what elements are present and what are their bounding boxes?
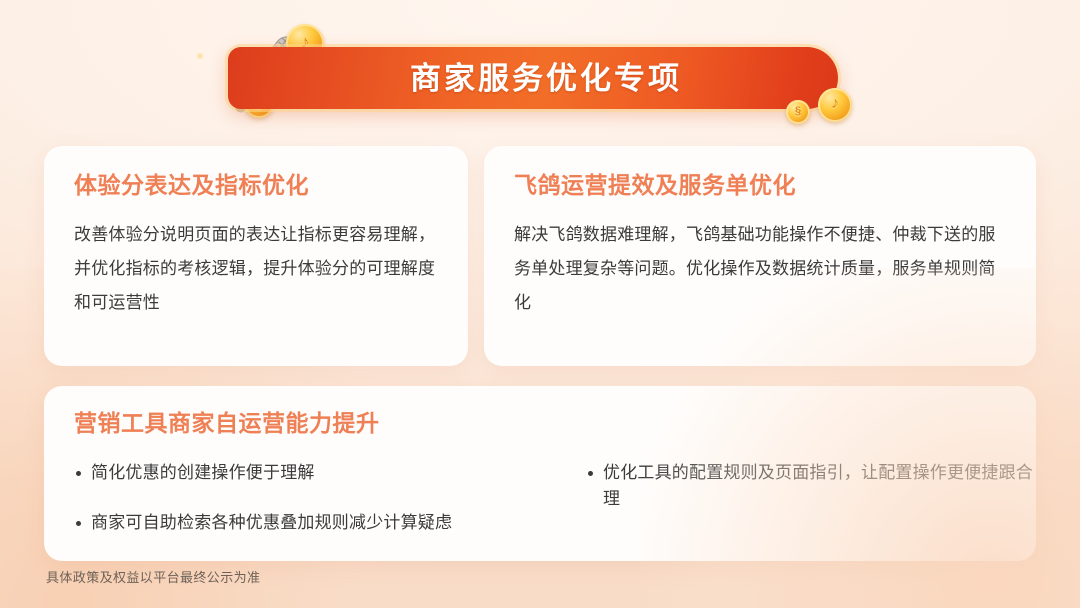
card-title: 营销工具商家自运营能力提升 bbox=[74, 410, 1006, 438]
list-item: 简化优惠的创建操作便于理解 bbox=[74, 460, 544, 486]
bullet-column-right: 优化工具的配置规则及页面指引，让配置操作更便捷跟合理 bbox=[586, 460, 1036, 537]
card-feige-operations: 飞鸽运营提效及服务单优化 解决飞鸽数据难理解，飞鸽基础功能操作不便捷、仲裁下送的… bbox=[484, 146, 1036, 366]
header-banner-area: ♪ § 商家服务优化专项 ♪ § bbox=[0, 0, 1080, 140]
card-title: 飞鸽运营提效及服务单优化 bbox=[514, 172, 1006, 200]
list-item-text: 商家可自助检索各种优惠叠加规则减少计算疑虑 bbox=[91, 510, 544, 536]
bullet-column-left: 简化优惠的创建操作便于理解 商家可自助检索各种优惠叠加规则减少计算疑虑 bbox=[74, 460, 544, 537]
card-body: 解决飞鸽数据难理解，飞鸽基础功能操作不便捷、仲裁下送的服务单处理复杂等问题。优化… bbox=[514, 218, 1006, 320]
list-item: 商家可自助检索各种优惠叠加规则减少计算疑虑 bbox=[74, 510, 544, 536]
list-item-text: 简化优惠的创建操作便于理解 bbox=[91, 460, 544, 486]
bullet-columns: 简化优惠的创建操作便于理解 商家可自助检索各种优惠叠加规则减少计算疑虑 优化工具… bbox=[74, 460, 1006, 537]
banner-title-bar: 商家服务优化专项 bbox=[228, 47, 838, 109]
sparkle-icon bbox=[196, 52, 204, 60]
card-experience-score: 体验分表达及指标优化 改善体验分说明页面的表达让指标更容易理解，并优化指标的考核… bbox=[44, 146, 468, 366]
list-item: 优化工具的配置规则及页面指引，让配置操作更便捷跟合理 bbox=[586, 460, 1036, 513]
coin-glyph: ♪ bbox=[831, 96, 839, 112]
slide-canvas: ♪ § 商家服务优化专项 ♪ § 体验分表达及指标优化 改善体验分说明页面的表达… bbox=[0, 0, 1080, 608]
card-title: 体验分表达及指标优化 bbox=[74, 172, 438, 200]
page-title: 商家服务优化专项 bbox=[384, 63, 682, 94]
card-marketing-tools: 营销工具商家自运营能力提升 简化优惠的创建操作便于理解 商家可自助检索各种优惠叠… bbox=[44, 386, 1036, 561]
card-body: 改善体验分说明页面的表达让指标更容易理解，并优化指标的考核逻辑，提升体验分的可理… bbox=[74, 218, 438, 320]
footer-disclaimer: 具体政策及权益以平台最终公示为准 bbox=[46, 571, 260, 584]
list-item-text: 优化工具的配置规则及页面指引，让配置操作更便捷跟合理 bbox=[603, 460, 1036, 513]
